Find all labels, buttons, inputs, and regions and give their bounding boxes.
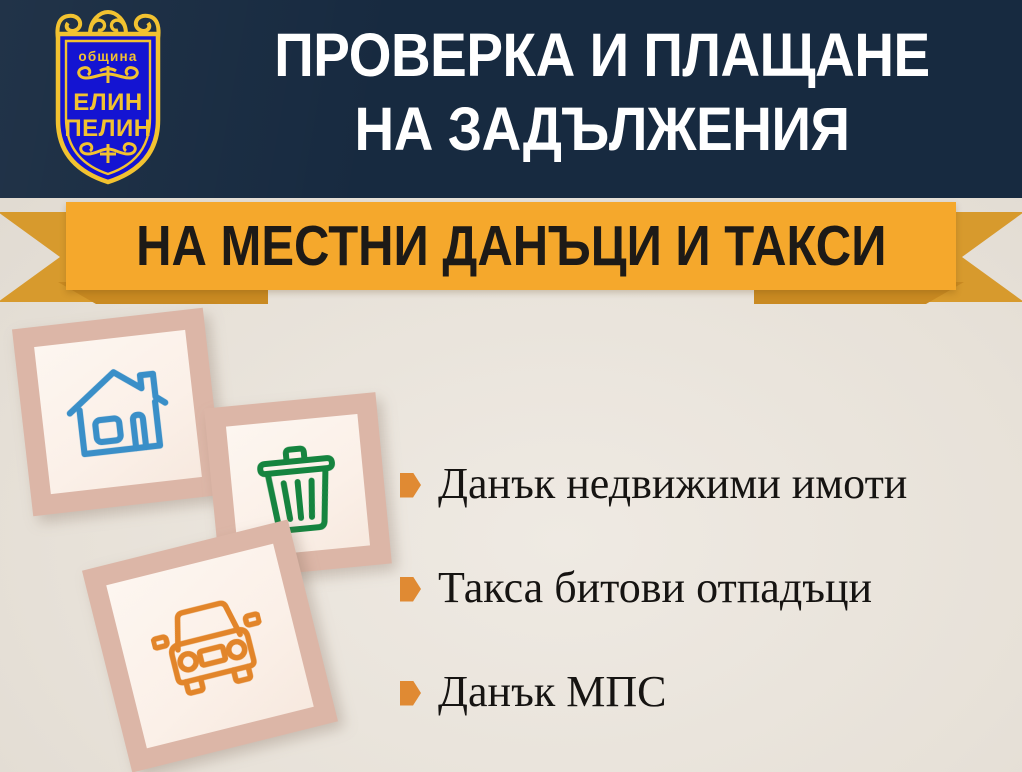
stamp-card-house (12, 308, 224, 517)
list-item[interactable]: Такса битови отпадъци (400, 536, 1000, 640)
ribbon-subtitle-text: НА МЕСТНИ ДАНЪЦИ И ТАКСИ (136, 217, 886, 275)
poster-title: ПРОВЕРКА И ПЛАЩАНЕ НА ЗАДЪЛЖЕНИЯ (233, 18, 971, 166)
list-item-label: Такса битови отпадъци (438, 564, 872, 612)
tax-type-list: Данък недвижими имоти Такса битови отпад… (400, 432, 1000, 744)
list-item[interactable]: Данък недвижими имоти (400, 432, 1000, 536)
house-icon (59, 356, 178, 468)
municipality-crest-logo: община ЕЛИН ПЕЛИН (28, 8, 188, 188)
svg-text:ЕЛИН: ЕЛИН (73, 89, 142, 116)
bullet-arrow-icon (400, 577, 421, 602)
svg-text:ПЕЛИН: ПЕЛИН (64, 115, 151, 142)
list-item-label: Данък недвижими имоти (438, 460, 907, 508)
stamp-paper (34, 330, 202, 494)
poster-canvas: община ЕЛИН ПЕЛИН (0, 0, 1022, 772)
svg-text:община: община (78, 49, 137, 64)
bullet-arrow-icon (400, 473, 421, 498)
title-line-2: НА ЗАДЪЛЖЕНИЯ (233, 92, 971, 166)
list-item[interactable]: Данък МПС (400, 640, 1000, 744)
car-front-icon (144, 586, 276, 706)
trash-bin-icon (247, 432, 348, 540)
header-band: община ЕЛИН ПЕЛИН (0, 0, 1022, 198)
bullet-arrow-icon (400, 681, 421, 706)
title-line-1: ПРОВЕРКА И ПЛАЩАНЕ (233, 18, 971, 92)
ribbon-panel: НА МЕСТНИ ДАНЪЦИ И ТАКСИ (66, 202, 956, 290)
subtitle-ribbon: НА МЕСТНИ ДАНЪЦИ И ТАКСИ (0, 196, 1022, 308)
list-item-label: Данък МПС (438, 668, 666, 716)
